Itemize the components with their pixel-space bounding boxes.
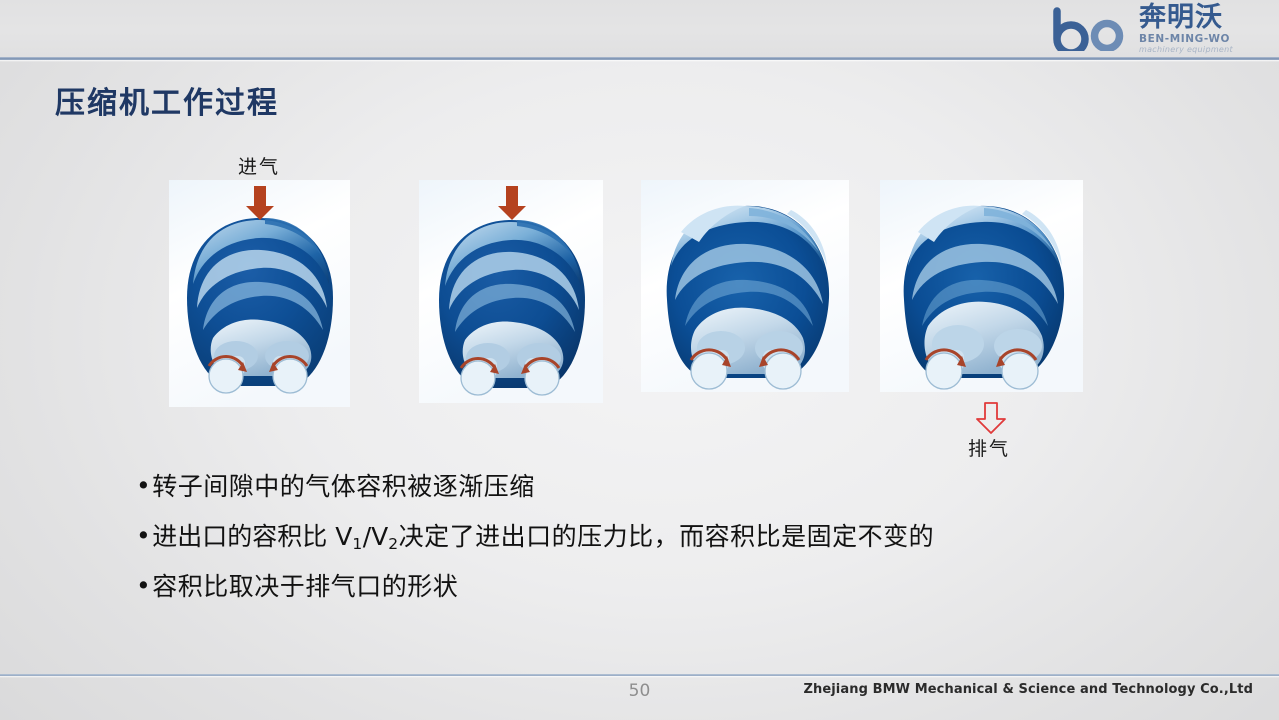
bullet-text-2-pre: 进出口的容积比 V [152, 522, 352, 551]
bullet-list: •转子间隙中的气体容积被逐渐压缩 •进出口的容积比 V1/V2决定了进出口的压力… [136, 474, 1136, 624]
volume-ratio-subscript-2: 2 [388, 535, 398, 553]
intake-label: 进气 [238, 152, 280, 179]
footer-divider-highlight [0, 676, 1279, 678]
bullet-text-3: 容积比取决于排气口的形状 [152, 572, 458, 601]
figure-screw-rotor-stage-4 [880, 180, 1083, 392]
figure-screw-rotor-stage-2 [419, 180, 603, 403]
company-logo: 奔明沃 BEN-MING-WO machinery equipment [1049, 2, 1271, 56]
page-title: 压缩机工作过程 [55, 78, 279, 122]
footer-company-name: Zhejiang BMW Mechanical & Science and Te… [803, 682, 1253, 697]
figure-screw-rotor-stage-1 [169, 180, 350, 407]
bullet-marker: • [136, 523, 151, 549]
bullet-item-1: •转子间隙中的气体容积被逐渐压缩 [136, 474, 1136, 501]
bullet-marker: • [136, 573, 151, 599]
logo-wordmark: 奔明沃 BEN-MING-WO machinery equipment [1139, 4, 1233, 55]
bullet-item-3: •容积比取决于排气口的形状 [136, 574, 1136, 601]
volume-ratio-subscript-1: 1 [352, 535, 362, 553]
bullet-marker: • [136, 473, 151, 499]
exhaust-arrow-icon [972, 402, 1010, 434]
bullet-text-2-mid: /V [363, 522, 389, 551]
bullet-text-2-post: 决定了进出口的压力比，而容积比是固定不变的 [399, 522, 935, 551]
bo-monogram-icon [1049, 7, 1135, 51]
logo-tagline: machinery equipment [1139, 46, 1233, 54]
logo-english-name: BEN-MING-WO [1139, 34, 1233, 45]
header-divider-highlight [0, 60, 1279, 62]
exhaust-label: 排气 [968, 434, 1010, 461]
logo-chinese-name: 奔明沃 [1139, 4, 1233, 31]
figure-screw-rotor-stage-3 [641, 180, 849, 392]
figure-row [0, 180, 1279, 410]
bullet-text-1: 转子间隙中的气体容积被逐渐压缩 [152, 472, 535, 501]
bullet-item-2: •进出口的容积比 V1/V2决定了进出口的压力比，而容积比是固定不变的 [136, 524, 1136, 551]
slide-root: 奔明沃 BEN-MING-WO machinery equipment 压缩机工… [0, 0, 1279, 720]
